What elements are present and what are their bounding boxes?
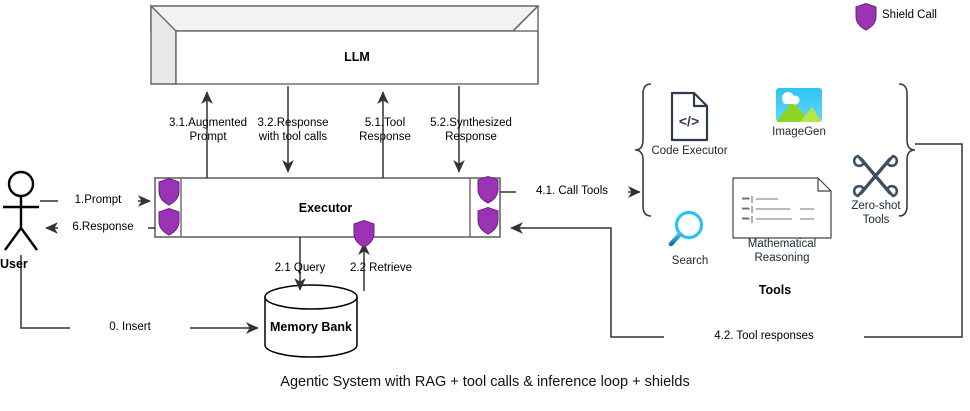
edge-label-4-2-tool-responses: 4.2. Tool responses (664, 330, 864, 344)
tool-label-code-executor: Code Executor (641, 145, 738, 159)
shield-icon-executor-memory (354, 221, 374, 248)
legend-shield-label: Shield Call (882, 9, 970, 23)
user-label: User (0, 257, 43, 271)
llm-node[interactable] (151, 6, 538, 84)
edge-label-1-prompt: 1.Prompt (58, 194, 138, 208)
llm-label: LLM (176, 50, 538, 64)
diagram-canvas: </> (0, 0, 970, 411)
diagram-caption: Agentic System with RAG + tool calls & i… (0, 374, 970, 390)
search-icon[interactable] (671, 213, 702, 245)
edge-label-5-1: 5.1.Tool Response (340, 117, 430, 144)
edge-label-2-2-retrieve: 2.2 Retrieve (333, 262, 429, 276)
memory-bank-label: Memory Bank (251, 320, 371, 334)
tool-label-imagegen: ImageGen (759, 126, 839, 140)
user-actor[interactable] (3, 172, 39, 250)
tools-group-label: Tools (715, 283, 835, 297)
edge-label-6-response: 6.Response (58, 221, 148, 235)
imagegen-icon[interactable] (776, 88, 822, 122)
tool-label-zero-shot-tools: Zero-shot Tools (838, 200, 914, 227)
code-executor-icon[interactable]: </> (672, 93, 707, 140)
svg-text:</>: </> (679, 113, 699, 129)
edge-label-0-insert: 0. Insert (70, 321, 190, 335)
tool-label-search: Search (659, 255, 721, 269)
tool-label-mathematical-reasoning: Mathematical Reasoning (722, 238, 842, 265)
shield-icon-legend (856, 4, 876, 31)
mathematical-reasoning-icon[interactable] (733, 178, 831, 238)
edge-label-2-1-query: 2.1 Query (255, 262, 345, 276)
edge-label-3-2: 3.2.Response with tool calls (233, 117, 353, 144)
crossed-wrenches-icon[interactable] (854, 156, 897, 196)
edge-label-5-2: 5.2.Synthesized Response (418, 117, 524, 144)
edge-label-4-1-call-tools: 4.1. Call Tools (516, 185, 628, 199)
executor-label: Executor (181, 201, 470, 215)
edge-0-insert (21, 255, 258, 328)
